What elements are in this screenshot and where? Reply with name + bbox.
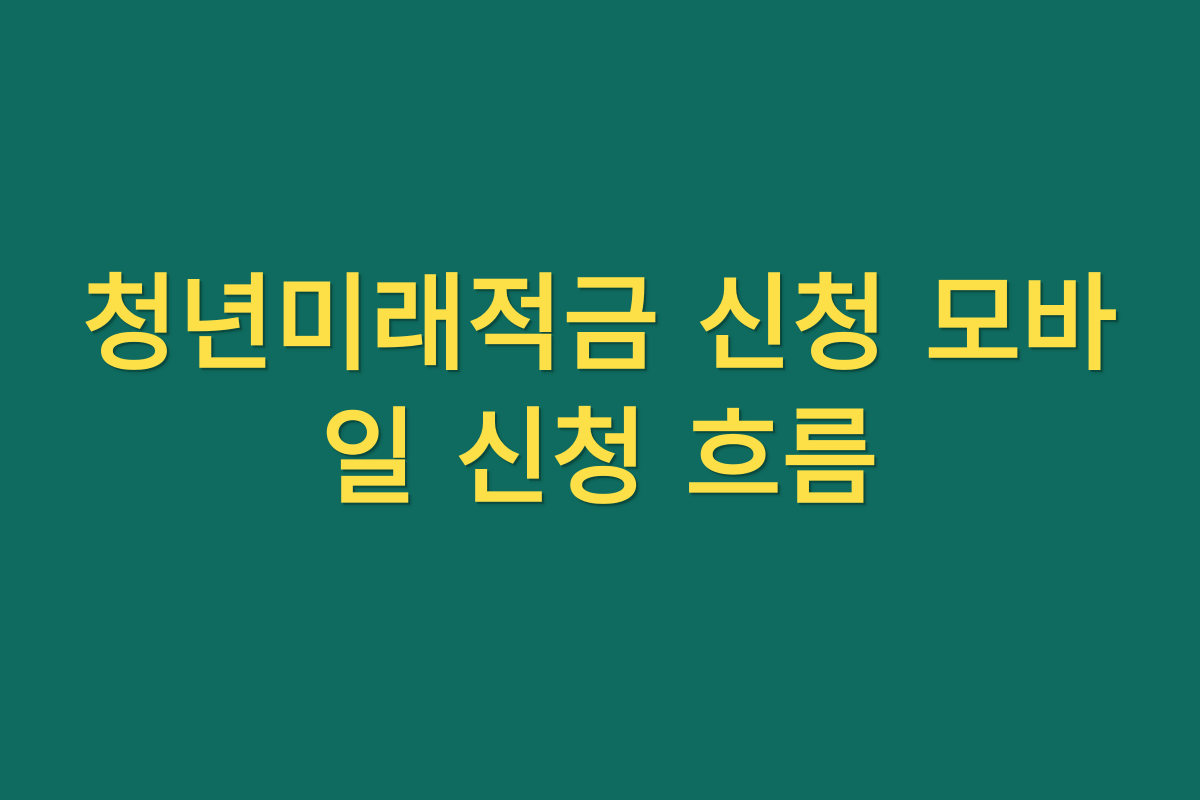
banner-title-block: 청년미래적금 신청 모바 일 신청 흐름 — [80, 257, 1120, 525]
banner-title-line-2: 일 신청 흐름 — [80, 391, 1120, 525]
banner-title-line-1: 청년미래적금 신청 모바 — [80, 257, 1120, 391]
title-banner: 청년미래적금 신청 모바 일 신청 흐름 — [0, 0, 1200, 800]
